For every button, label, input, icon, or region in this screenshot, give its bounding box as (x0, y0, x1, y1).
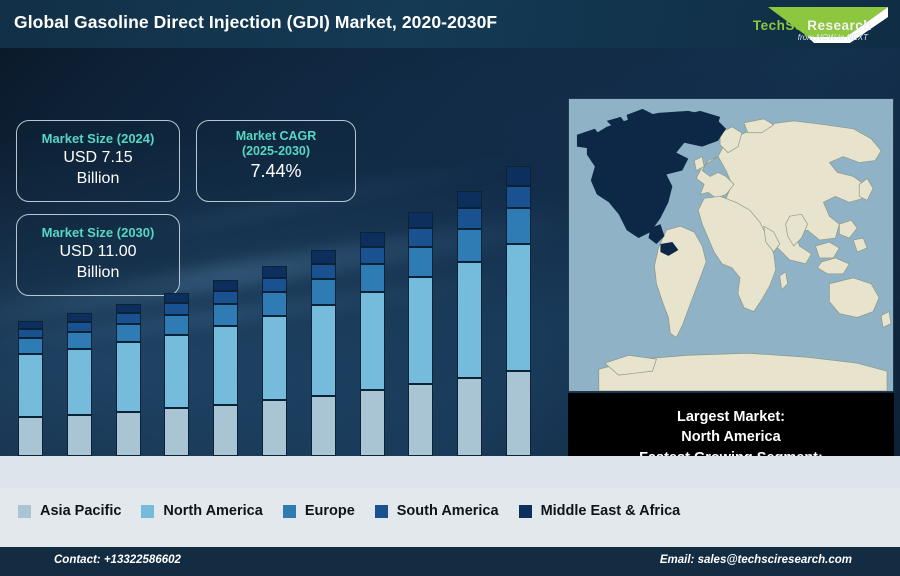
bar-segment-middle-east-africa (67, 313, 92, 322)
bar-segment-middle-east-africa (262, 266, 287, 278)
largest-market-value: North America (568, 428, 894, 447)
bar-segment-middle-east-africa (311, 250, 336, 263)
bar-segment-europe (457, 229, 482, 262)
bar-segment-south-america (360, 247, 385, 264)
legend-label: South America (397, 503, 499, 519)
bar-segment-south-america (116, 313, 141, 324)
bar-segment-middle-east-africa (18, 321, 43, 329)
world-map (568, 98, 894, 392)
legend-swatch-icon (141, 505, 154, 518)
bar-segment-europe (67, 332, 92, 349)
bar-segment-middle-east-africa (164, 293, 189, 303)
bar-segment-europe (360, 264, 385, 292)
bar-2030F (506, 166, 531, 456)
bar-segment-south-america (164, 303, 189, 315)
bar-segment-asia-pacific (164, 408, 189, 456)
bar-segment-north-america (116, 342, 141, 412)
bar-segment-asia-pacific (506, 371, 531, 456)
bar-segment-middle-east-africa (360, 232, 385, 247)
logo: TechSciResearch from NOW to NEXT (704, 0, 894, 48)
bar-segment-europe (311, 279, 336, 304)
bar-segment-asia-pacific (262, 400, 287, 456)
legend-label: Europe (305, 503, 355, 519)
bar-segment-europe (213, 304, 238, 326)
infographic-root: Global Gasoline Direct Injection (GDI) M… (0, 0, 900, 576)
bar-segment-north-america (262, 316, 287, 400)
legend-swatch-icon (283, 505, 296, 518)
legend-label: Asia Pacific (40, 503, 121, 519)
axis-strip (0, 456, 900, 488)
bar-2027F (360, 232, 385, 456)
legend-swatch-icon (519, 505, 532, 518)
bar-segment-north-america (360, 292, 385, 391)
bar-segment-north-america (408, 277, 433, 384)
bar-segment-middle-east-africa (408, 212, 433, 228)
logo-text-techsci: TechSci (753, 18, 807, 33)
bar-segment-north-america (164, 335, 189, 409)
bar-segment-asia-pacific (457, 378, 482, 456)
bar-segment-north-america (457, 262, 482, 378)
bar-segment-europe (116, 324, 141, 342)
bar-segment-asia-pacific (213, 405, 238, 457)
bar-segment-europe (408, 247, 433, 277)
bar-segment-south-america (18, 329, 43, 338)
largest-market-label: Largest Market: (568, 408, 894, 427)
legend-item-europe: Europe (283, 503, 355, 519)
legend-label: North America (163, 503, 262, 519)
bar-segment-north-america (18, 354, 43, 417)
bar-segment-europe (18, 338, 43, 354)
legend-swatch-icon (18, 505, 31, 518)
bar-2026F (311, 250, 336, 456)
bar-segment-europe (164, 315, 189, 335)
bar-segment-south-america (262, 278, 287, 292)
bar-segment-asia-pacific (311, 396, 336, 456)
legend-item-middle-east-africa: Middle East & Africa (519, 503, 681, 519)
bar-segment-south-america (311, 264, 336, 279)
bar-segment-asia-pacific (360, 390, 385, 456)
legend-label: Middle East & Africa (541, 503, 681, 519)
bar-2029F (457, 191, 482, 457)
bar-2024 (213, 280, 238, 456)
bar-segment-europe (262, 292, 287, 315)
bar-segment-north-america (213, 326, 238, 405)
bar-segment-north-america (506, 244, 531, 371)
legend-item-asia-pacific: Asia Pacific (18, 503, 121, 519)
bar-segment-north-america (67, 349, 92, 415)
bar-segment-asia-pacific (116, 412, 141, 456)
legend-swatch-icon (375, 505, 388, 518)
bar-segment-south-america (213, 291, 238, 304)
bar-2022 (116, 304, 141, 456)
bar-2023 (164, 293, 189, 456)
bar-segment-asia-pacific (18, 417, 43, 456)
bar-2020 (18, 321, 43, 456)
bar-segment-europe (506, 208, 531, 244)
legend-item-south-america: South America (375, 503, 499, 519)
chart-legend: Asia PacificNorth AmericaEuropeSouth Ame… (0, 488, 900, 534)
logo-tagline: from NOW to NEXT (798, 33, 868, 42)
bar-2025E (262, 266, 287, 456)
bar-segment-middle-east-africa (213, 280, 238, 291)
bar-segment-south-america (457, 208, 482, 228)
footer-email: Email: sales@techsciresearch.com (660, 554, 852, 566)
bar-segment-middle-east-africa (457, 191, 482, 209)
bar-segment-north-america (311, 305, 336, 396)
header-bar: Global Gasoline Direct Injection (GDI) M… (0, 0, 900, 48)
bar-segment-middle-east-africa (506, 166, 531, 186)
stacked-bar-chart: 202020212022202320242025E2026F2027F2028F… (0, 48, 560, 488)
logo-text-research: Research (807, 18, 872, 33)
logo-wordmark: TechSciResearch (753, 18, 872, 33)
world-map-svg (569, 99, 893, 391)
footer-bar: Contact: +13322586602 Email: sales@techs… (0, 547, 900, 576)
legend-item-north-america: North America (141, 503, 262, 519)
bar-2028F (408, 212, 433, 456)
page-title: Global Gasoline Direct Injection (GDI) M… (14, 12, 497, 33)
bar-segment-south-america (408, 228, 433, 247)
bar-segment-south-america (67, 322, 92, 332)
bar-2021 (67, 313, 92, 456)
bar-segment-middle-east-africa (116, 304, 141, 314)
bar-segment-asia-pacific (408, 384, 433, 456)
bar-segment-south-america (506, 186, 531, 208)
bar-segment-asia-pacific (67, 415, 92, 456)
footer-contact: Contact: +13322586602 (54, 554, 181, 566)
chart-stage: Market Size (2024) USD 7.15 Billion Mark… (0, 48, 900, 488)
